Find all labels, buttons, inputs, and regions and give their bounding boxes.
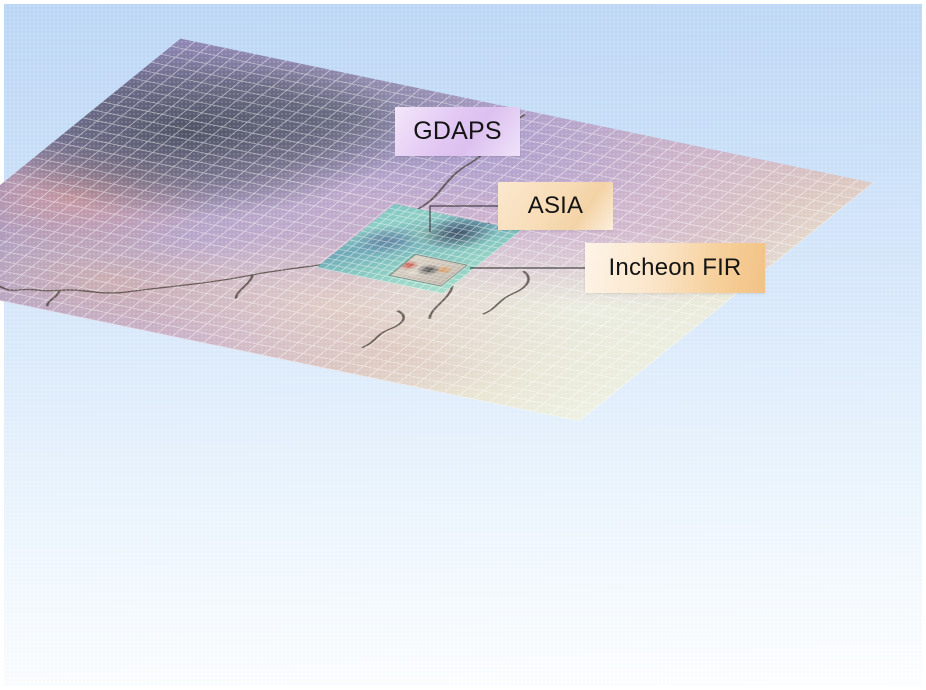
label-incheon[interactable]: Incheon FIR [585,243,765,293]
label-asia[interactable]: ASIA [498,182,613,230]
label-gdaps[interactable]: GDAPS [395,107,520,156]
figure-canvas: GDAPS ASIA Incheon FIR [0,0,926,690]
scene-stage [0,0,926,690]
